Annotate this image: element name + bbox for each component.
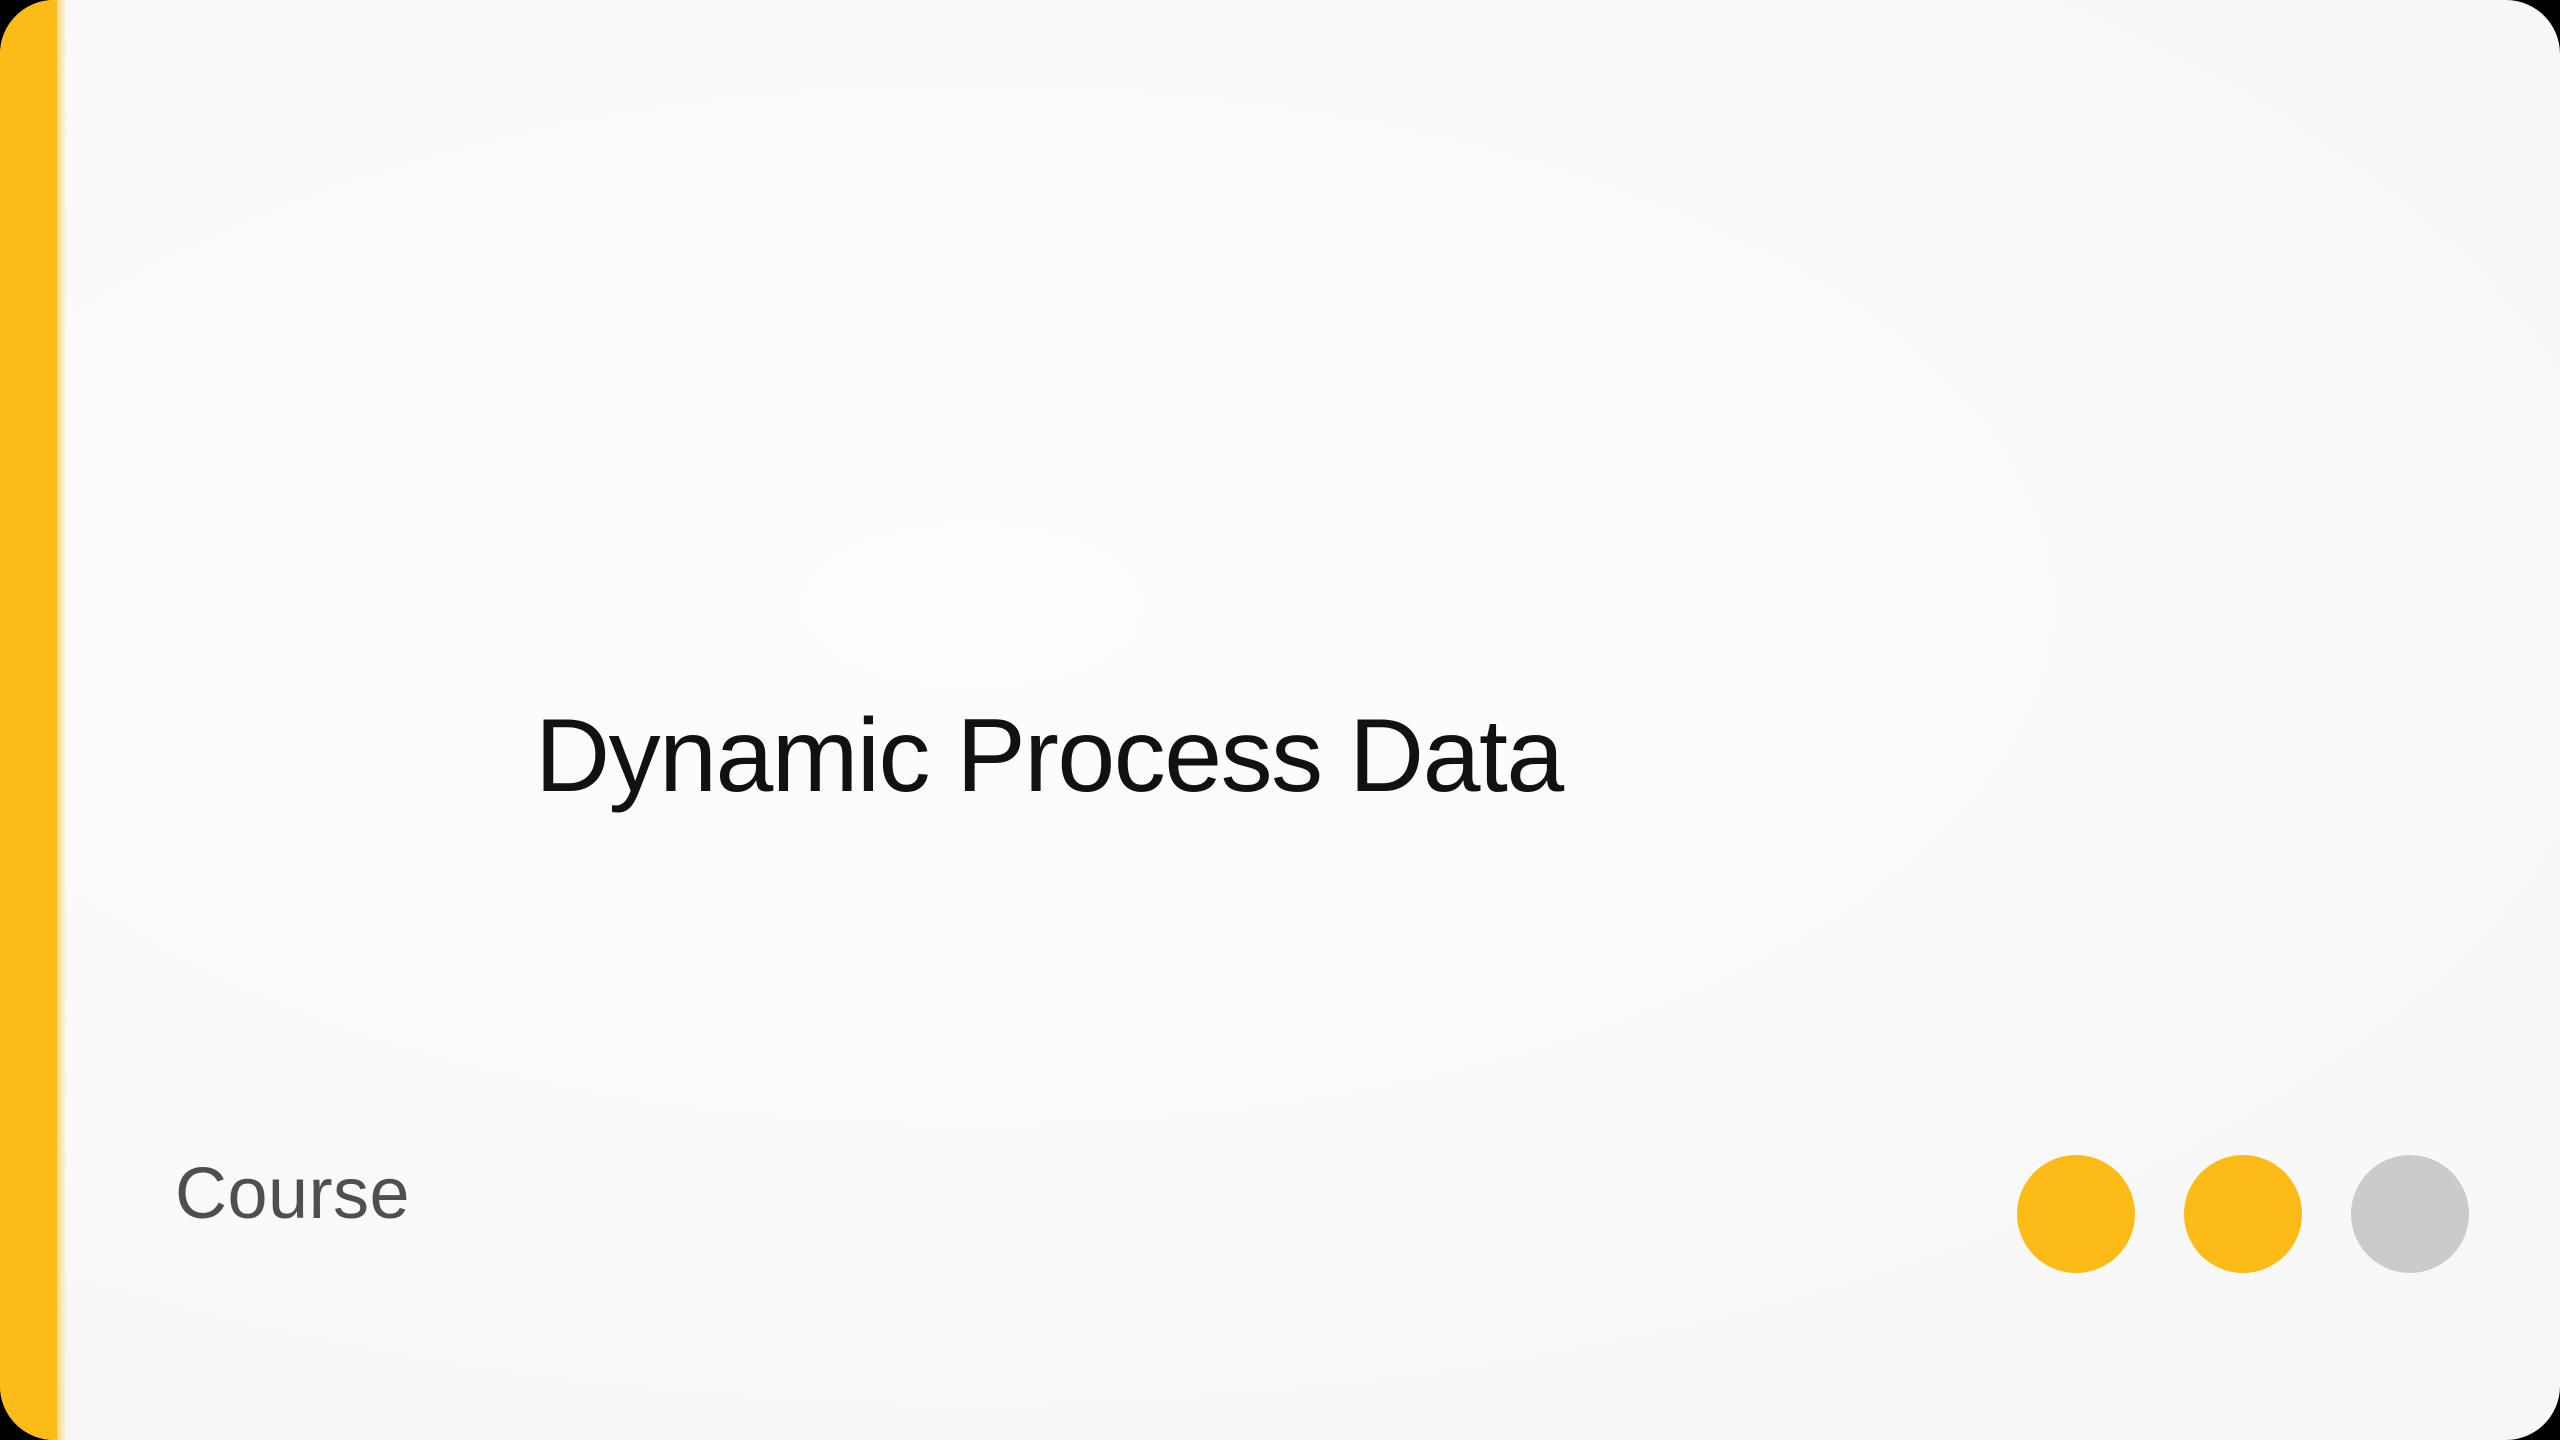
slide-title: Dynamic Process Data (535, 698, 1563, 814)
progress-dot-2[interactable] (2184, 1155, 2302, 1273)
progress-dot-3[interactable] (2351, 1155, 2469, 1273)
slide-content: Dynamic Process Data Course (57, 0, 2560, 1440)
slide-footer: Course (57, 1080, 2560, 1440)
left-accent-bar (0, 0, 57, 1440)
progress-dots (2017, 1155, 2469, 1273)
progress-dot-1[interactable] (2017, 1155, 2135, 1273)
course-label: Course (175, 1158, 410, 1230)
slide-card: Dynamic Process Data Course (0, 0, 2560, 1440)
slide-root: Dynamic Process Data Course (0, 0, 2560, 1440)
